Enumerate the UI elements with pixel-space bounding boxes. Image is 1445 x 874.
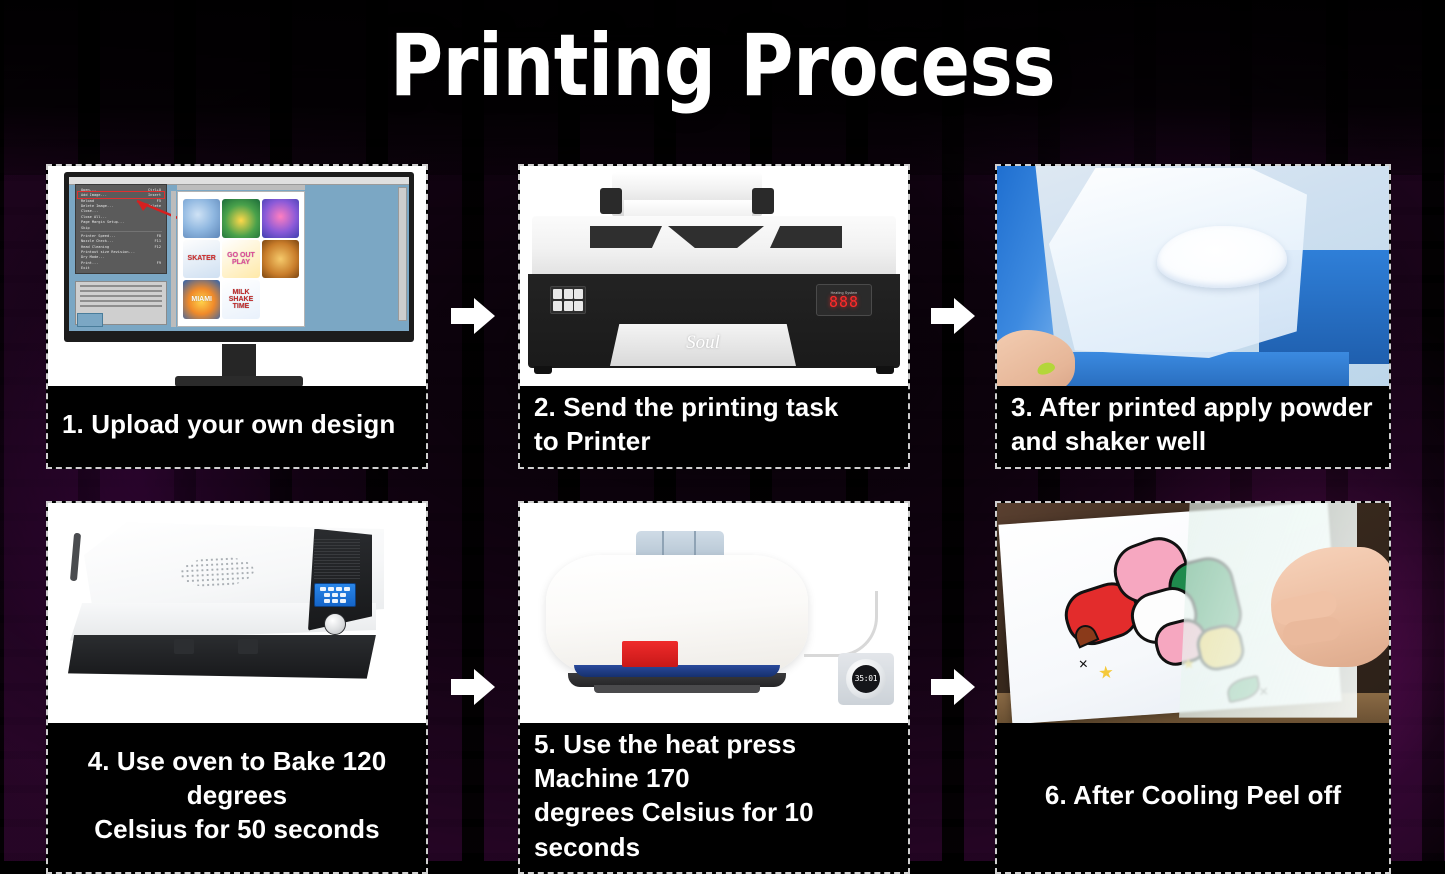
remote-timer[interactable]: 35:01	[838, 653, 894, 705]
menu-item-shortcut: F5	[157, 199, 161, 203]
artwork-thumb[interactable]	[222, 199, 259, 238]
menu-item-label: Add Image...	[81, 193, 107, 197]
printer: Heating System 888 Soul	[528, 170, 900, 380]
lcd-segment	[332, 593, 338, 597]
rip-ruler-top	[177, 185, 305, 190]
timer-face: 35:01	[852, 665, 880, 693]
lcd-segment	[340, 599, 346, 603]
menu-item-skip[interactable]: Skip	[78, 225, 164, 230]
menu-item-label: Exit	[81, 266, 90, 270]
step-cell-4: 4. Use oven to Bake 120 degrees Celsius …	[46, 501, 428, 874]
lcd-segment	[324, 599, 330, 603]
menu-item-label: Delete Image...	[81, 204, 113, 208]
pane-line	[80, 295, 162, 298]
keypad-button[interactable]	[574, 289, 583, 299]
artwork-thumb[interactable]: GO OUT PLAY	[222, 240, 259, 279]
lcd-segment	[320, 587, 326, 591]
step-caption-text: 1. Upload your own design	[62, 407, 395, 441]
artwork-label: MIAMI	[191, 296, 212, 303]
white-powder-pile	[1157, 226, 1287, 288]
lcd-segment	[332, 599, 338, 603]
step-cell-6: ✕ ✕ 6. After Cooling Peel off	[995, 501, 1391, 874]
fingernail	[1036, 360, 1057, 376]
step-caption-text: 5. Use the heat press Machine 170 degree…	[534, 727, 894, 864]
menu-item-label: Open...	[81, 188, 96, 192]
monitor: Open... Ctrl+O Add Image... Insert Reloa…	[64, 172, 414, 342]
heat-press-machine: 35:01	[530, 513, 898, 711]
step-caption-5: 5. Use the heat press Machine 170 degree…	[520, 723, 908, 872]
menu-item-label: Close...	[81, 209, 98, 213]
step-card-2[interactable]: Heating System 888 Soul 2. Send the prin…	[518, 164, 910, 469]
lcd-segment	[340, 593, 346, 597]
menu-item-shortcut: F12	[155, 245, 162, 249]
step-card-6[interactable]: ✕ ✕ 6. After Cooling Peel off	[995, 501, 1391, 874]
arrow-right-icon	[451, 667, 495, 707]
printer-keypad[interactable]	[550, 286, 586, 314]
step-cell-1: Open... Ctrl+O Add Image... Insert Reloa…	[46, 164, 428, 469]
arrow-cell-4	[910, 501, 995, 874]
artwork-thumb[interactable]: SKATER	[183, 240, 220, 279]
pane-line	[80, 305, 162, 308]
artwork-thumb[interactable]: MILK SHAKE TIME	[222, 280, 259, 319]
step-cell-5: 35:01 5. Use the heat press Machine 170 …	[518, 501, 910, 874]
lcd-segment	[336, 587, 342, 591]
menu-item-exit[interactable]: Exit	[78, 266, 164, 271]
monitor-screen: Open... Ctrl+O Add Image... Insert Reloa…	[69, 177, 409, 331]
arrow-right-icon	[451, 296, 495, 336]
arrow-cell-1	[428, 164, 518, 469]
menu-item-shortcut: F11	[155, 239, 162, 243]
step-card-3[interactable]: 3. After printed apply powder and shaker…	[995, 164, 1391, 469]
arrow-head	[954, 669, 975, 705]
step-card-4[interactable]: 4. Use oven to Bake 120 degrees Celsius …	[46, 501, 428, 874]
artwork-thumb[interactable]	[183, 199, 220, 238]
step-caption-text: 2. Send the printing task to Printer	[534, 390, 838, 459]
printed-sample-text: Soul	[686, 332, 720, 354]
steps-grid: Open... Ctrl+O Add Image... Insert Reloa…	[46, 164, 1399, 839]
pane-line	[80, 285, 162, 288]
printer-vent-right	[770, 226, 842, 248]
artwork-label: GO OUT PLAY	[222, 252, 259, 266]
lcd-row	[317, 593, 353, 597]
oven-hinge	[70, 532, 81, 580]
menu-item-label: Head Cleaning	[81, 245, 109, 249]
menu-item-label: Printer Speed...	[81, 234, 116, 238]
printer-vent-left	[590, 226, 662, 248]
oven-latch-right[interactable]	[238, 639, 258, 654]
timer-value: 35:01	[855, 674, 878, 683]
oven-lcd-display	[314, 583, 356, 607]
artwork-label: SKATER	[188, 255, 216, 262]
step-caption-2: 2. Send the printing task to Printer	[520, 386, 908, 467]
pane-line	[80, 290, 162, 293]
step-caption-6: 6. After Cooling Peel off	[997, 723, 1389, 872]
lcd-segment	[324, 593, 330, 597]
printer-foot-left	[534, 366, 552, 374]
rip-ruler-left	[171, 191, 176, 327]
oven-base	[68, 635, 376, 679]
menu-item-label: Printout size Revision...	[81, 250, 135, 254]
curing-oven-image	[48, 503, 426, 723]
keypad-button[interactable]	[553, 289, 562, 299]
step-card-5[interactable]: 35:01 5. Use the heat press Machine 170 …	[518, 501, 910, 874]
oven-latch-left[interactable]	[174, 639, 194, 654]
peel-off-image: ✕ ✕	[997, 503, 1389, 723]
dtf-printer-image: Heating System 888 Soul	[520, 166, 908, 386]
step-cell-2: Heating System 888 Soul 2. Send the prin…	[518, 164, 910, 469]
printer-foot-right	[876, 366, 894, 374]
lcd-row	[317, 587, 353, 591]
rip-dropdown-menu[interactable]: Open... Ctrl+O Add Image... Insert Reloa…	[75, 184, 167, 274]
rip-canvas-page[interactable]: SKATER GO OUT PLAY MIAMI MILK SHAKE TIME	[177, 191, 305, 327]
menu-item-label: Skip	[81, 226, 90, 230]
pane-line	[80, 300, 162, 303]
menu-separator	[80, 231, 162, 232]
heat-press-foot	[594, 685, 760, 693]
oven-power-knob[interactable]	[324, 613, 346, 635]
step-card-1[interactable]: Open... Ctrl+O Add Image... Insert Reloa…	[46, 164, 428, 469]
star-icon	[1099, 665, 1114, 680]
lcd-segment	[344, 587, 350, 591]
timer-dial[interactable]: 35:01	[846, 659, 886, 699]
powder-application-image	[997, 166, 1389, 386]
menu-item-label: Print...	[81, 261, 98, 265]
transfer-film-sheet	[1049, 168, 1307, 358]
step-caption-1: 1. Upload your own design	[48, 386, 426, 467]
step-caption-3: 3. After printed apply powder and shaker…	[997, 386, 1389, 467]
menu-item-label: Page Margin Setup...	[81, 220, 124, 224]
rip-page-thumbnail[interactable]	[77, 313, 103, 327]
printer-output-tray: Soul	[610, 324, 796, 366]
arrow-head	[954, 298, 975, 334]
monitor-rip-software-image: Open... Ctrl+O Add Image... Insert Reloa…	[48, 166, 426, 386]
arrow-right-icon	[931, 667, 975, 707]
sparkle-icon: ✕	[1078, 656, 1089, 671]
menu-item-shortcut: F9	[157, 261, 161, 265]
step-caption-text: 4. Use oven to Bake 120 degrees Celsius …	[62, 744, 412, 847]
power-cord	[804, 591, 878, 657]
step-cell-3: 3. After printed apply powder and shaker…	[995, 164, 1391, 469]
arrow-head	[474, 298, 495, 334]
menu-item-shortcut: Insert	[148, 193, 161, 197]
keypad-button[interactable]	[553, 301, 562, 311]
arrow-cell-2	[910, 164, 995, 469]
rip-toolbar-right[interactable]	[398, 187, 407, 321]
menu-item-label: Reload	[81, 199, 94, 203]
keypad-button[interactable]	[574, 301, 583, 311]
monitor-stand-base	[175, 376, 303, 386]
curing-oven	[58, 515, 416, 709]
arrow-head	[474, 669, 495, 705]
step-caption-4: 4. Use oven to Bake 120 degrees Celsius …	[48, 723, 426, 872]
menu-item-shortcut: F8	[157, 234, 161, 238]
blue-tray-bottom	[1037, 352, 1349, 386]
page-title: Printing Process	[43, 20, 1401, 113]
keypad-button[interactable]	[564, 301, 573, 311]
menu-item-label: Dry Mode...	[81, 255, 105, 259]
step-caption-text: 6. After Cooling Peel off	[1045, 778, 1341, 812]
lcd-row	[317, 599, 353, 603]
led-display-value: 888	[829, 295, 859, 310]
arrow-right-icon	[931, 296, 975, 336]
arrow-cell-3	[428, 501, 518, 874]
hand	[997, 330, 1075, 386]
keypad-button[interactable]	[564, 289, 573, 299]
artwork-thumb[interactable]	[262, 240, 299, 279]
menu-item-label: Nozzle Check...	[81, 239, 113, 243]
roll-holder-left	[600, 188, 622, 214]
artwork-thumb[interactable]: MIAMI	[183, 280, 220, 319]
menu-item-label: Close All...	[81, 215, 107, 219]
heat-press-display	[622, 641, 678, 667]
printer-body: Heating System 888 Soul	[528, 274, 900, 368]
row-gap	[46, 469, 1391, 501]
artwork-label: MILK SHAKE TIME	[222, 289, 259, 310]
step-caption-text: 3. After printed apply powder and shaker…	[1011, 390, 1373, 459]
artwork-thumb[interactable]	[262, 199, 299, 238]
monitor-stand-neck	[222, 344, 256, 378]
oven-panel-mesh	[314, 537, 360, 579]
menu-item-shortcut: Ctrl+O	[148, 188, 161, 192]
roll-holder-right	[752, 188, 774, 214]
lcd-segment	[328, 587, 334, 591]
printer-led-display: Heating System 888	[816, 284, 872, 316]
menu-item-shortcut: Delete	[148, 204, 161, 208]
heat-press-image: 35:01	[520, 503, 908, 723]
